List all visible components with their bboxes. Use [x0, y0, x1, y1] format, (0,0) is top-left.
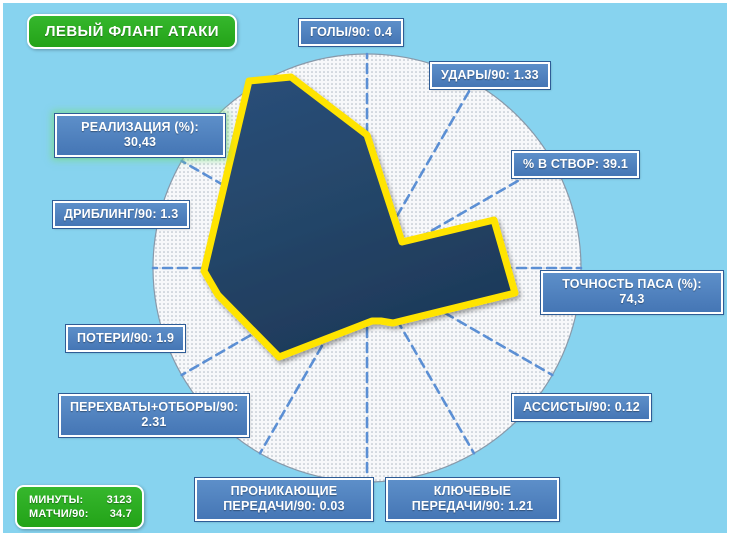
summary-stats-table: МИНУТЫ: 3123 МАТЧИ/90: 34.7 [29, 493, 132, 521]
label-dribbling-text: ДРИБЛИНГ/90: 1.3 [64, 207, 178, 221]
panel-title-badge: ЛЕВЫЙ ФЛАНГ АТАКИ [27, 14, 237, 49]
label-goals-text: ГОЛЫ/90: 0.4 [310, 25, 392, 39]
summary-stats-box: МИНУТЫ: 3123 МАТЧИ/90: 34.7 [15, 485, 144, 529]
label-pass-accuracy-line1: ТОЧНОСТЬ ПАСА (%): [552, 277, 712, 292]
label-key-passes-line2: ПЕРЕДАЧИ/90: 1.21 [397, 499, 548, 514]
label-assists-text: АССИСТЫ/90: 0.12 [523, 400, 640, 414]
stats-value-minutes: 3123 [89, 493, 132, 507]
label-pass-accuracy-pct: ТОЧНОСТЬ ПАСА (%): 74,3 [541, 271, 723, 314]
label-on-target-text: % В СТВОР: 39.1 [523, 157, 628, 171]
label-conversion-pct: РЕАЛИЗАЦИЯ (%): 30,43 [55, 114, 225, 157]
label-shots-per90: УДАРЫ/90: 1.33 [430, 62, 550, 89]
label-dribbling-per90: ДРИБЛИНГ/90: 1.3 [53, 201, 189, 228]
label-through-passes-per90: ПРОНИКАЮЩИЕ ПЕРЕДАЧИ/90: 0.03 [195, 478, 373, 521]
label-through-passes-line2: ПЕРЕДАЧИ/90: 0.03 [206, 499, 362, 514]
radar-chart-svg [3, 3, 730, 536]
label-through-passes-line1: ПРОНИКАЮЩИЕ [206, 484, 362, 499]
label-conversion-line1: РЕАЛИЗАЦИЯ (%): [66, 120, 214, 135]
label-key-passes-per90: КЛЮЧЕВЫЕ ПЕРЕДАЧИ/90: 1.21 [386, 478, 559, 521]
table-row: МИНУТЫ: 3123 [29, 493, 132, 507]
radar-chart-area [3, 3, 730, 536]
label-interceptions-line1: ПЕРЕХВАТЫ+ОТБОРЫ/90: [70, 400, 238, 415]
panel-title-text: ЛЕВЫЙ ФЛАНГ АТАКИ [45, 23, 219, 40]
stats-label-matches: МАТЧИ/90: [29, 507, 89, 521]
label-conversion-line2: 30,43 [66, 135, 214, 150]
label-shots-text: УДАРЫ/90: 1.33 [441, 68, 539, 82]
label-losses-per90: ПОТЕРИ/90: 1.9 [66, 325, 185, 352]
label-losses-text: ПОТЕРИ/90: 1.9 [77, 331, 174, 345]
label-key-passes-line1: КЛЮЧЕВЫЕ [397, 484, 548, 499]
label-shots-on-target-pct: % В СТВОР: 39.1 [512, 151, 639, 178]
label-interceptions-tackles-per90: ПЕРЕХВАТЫ+ОТБОРЫ/90: 2.31 [59, 394, 249, 437]
stats-value-matches: 34.7 [89, 507, 132, 521]
label-assists-per90: АССИСТЫ/90: 0.12 [512, 394, 651, 421]
table-row: МАТЧИ/90: 34.7 [29, 507, 132, 521]
infographic-canvas: ЛЕВЫЙ ФЛАНГ АТАКИ МИНУТЫ: 3123 МАТЧИ/90:… [0, 0, 730, 536]
label-interceptions-line2: 2.31 [70, 415, 238, 430]
stats-label-minutes: МИНУТЫ: [29, 493, 89, 507]
label-pass-accuracy-line2: 74,3 [552, 292, 712, 307]
label-goals-per90: ГОЛЫ/90: 0.4 [299, 19, 403, 46]
